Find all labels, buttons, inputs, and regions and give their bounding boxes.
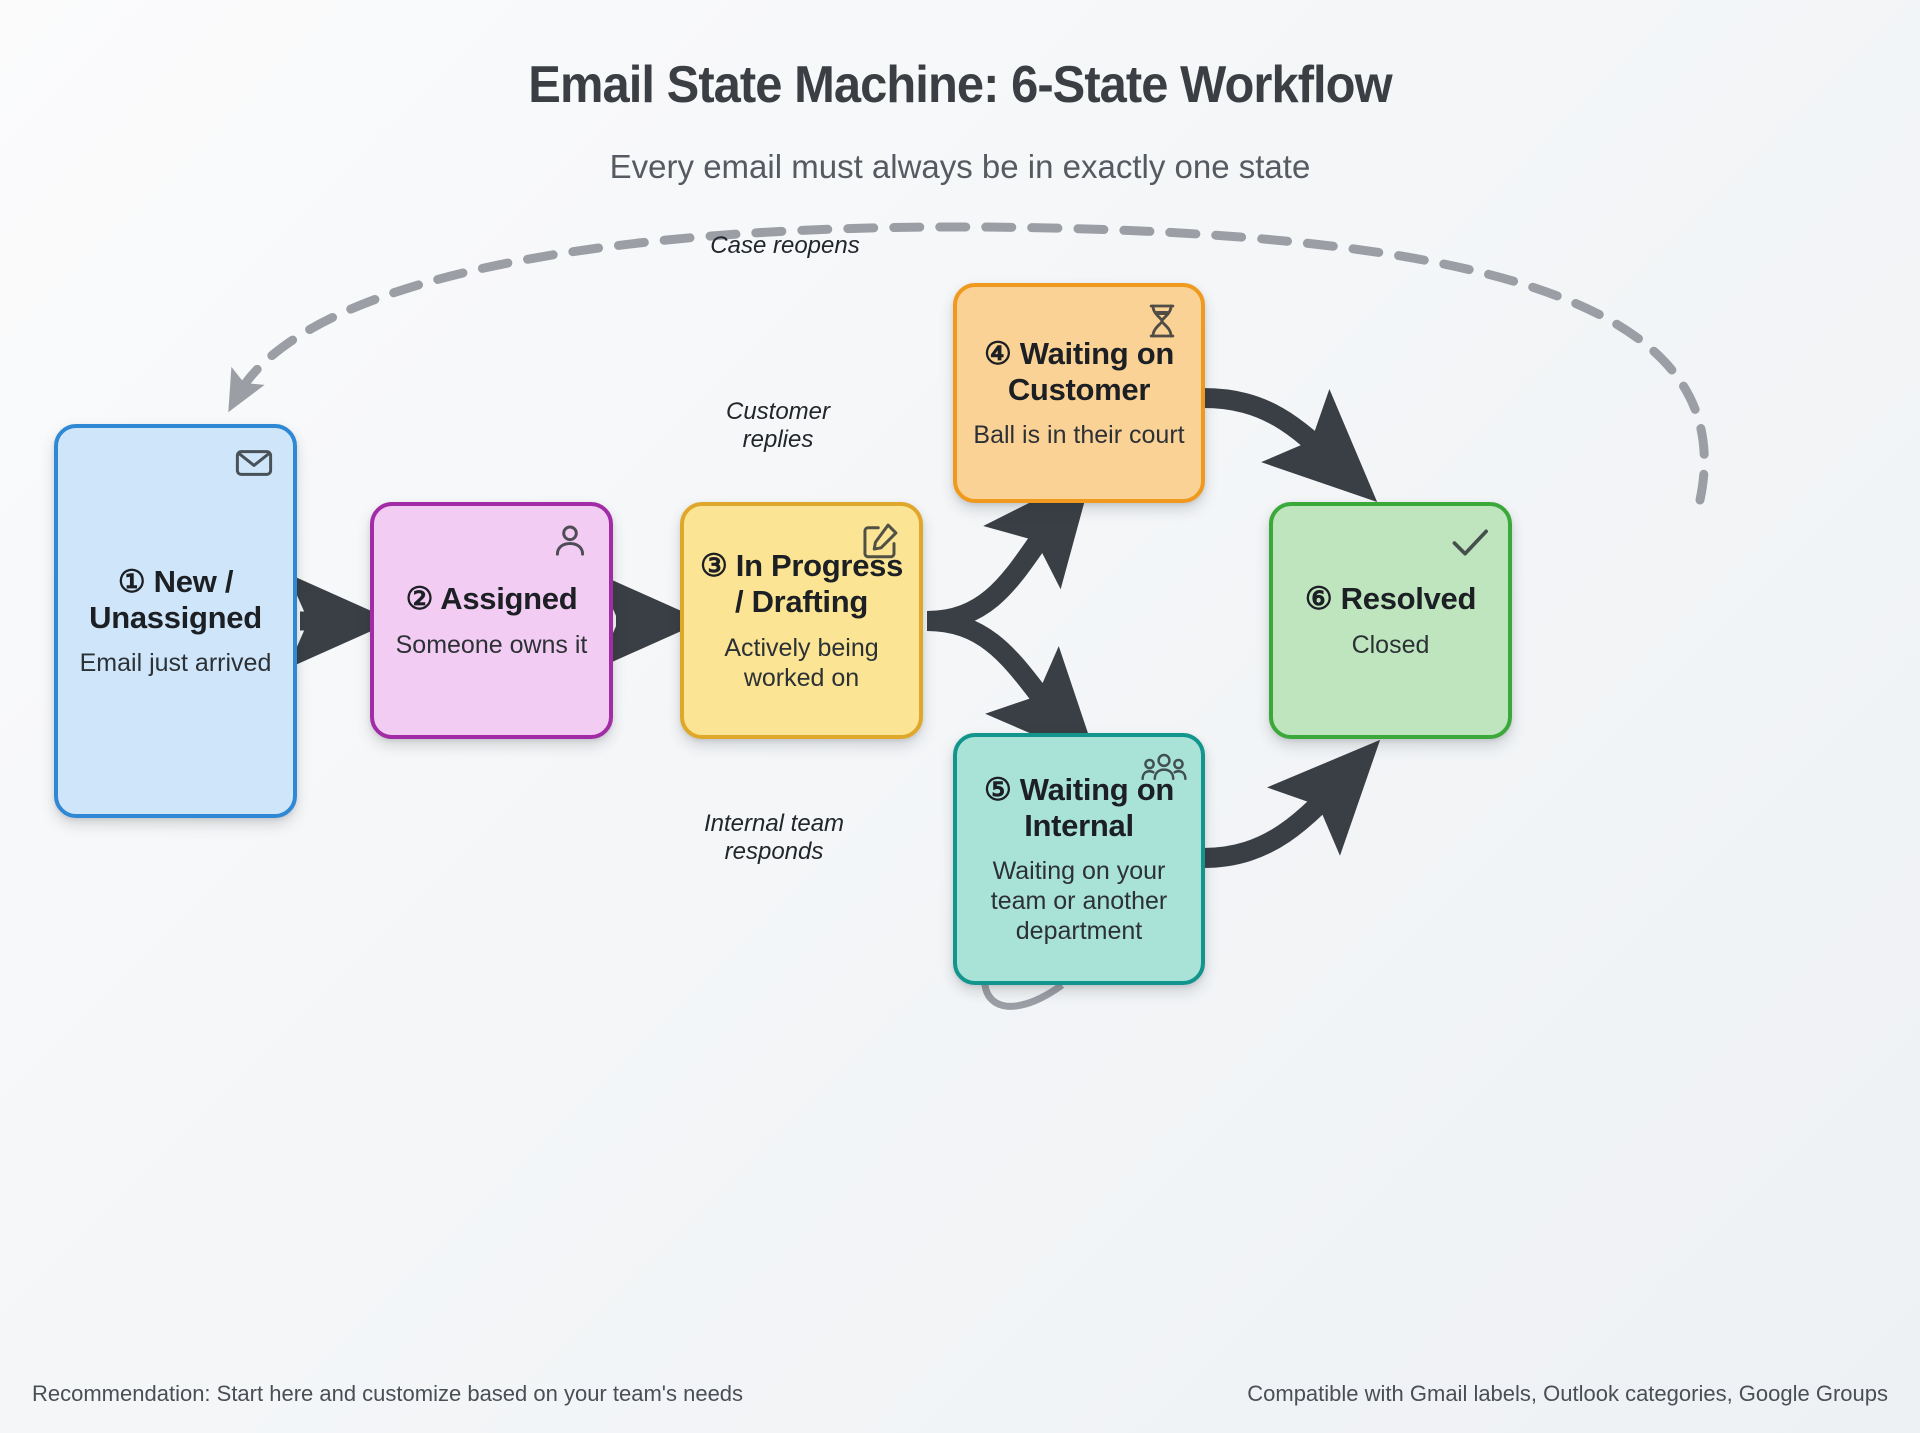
state-node-subtitle-line: worked on: [724, 663, 878, 693]
hourglass-icon: [1141, 301, 1183, 343]
edit-pencil-icon: [859, 520, 901, 562]
state-node-in-progress-drafting[interactable]: ③ In Progress / Drafting Actively being …: [680, 502, 923, 739]
edge-label-line: replies: [700, 426, 856, 454]
people-group-icon: [1141, 751, 1183, 793]
edge-label-internal-responds: Internal team responds: [686, 810, 862, 867]
state-node-title: ② Assigned: [406, 581, 578, 617]
edge-waiting-internal-to-resolved: [1203, 772, 1350, 858]
state-node-resolved[interactable]: ⑥ Resolved Closed: [1269, 502, 1512, 739]
edge-label-case-reopens: Case reopens: [700, 232, 870, 260]
edge-label-line: responds: [686, 838, 862, 866]
state-node-subtitle-line: Actively being: [724, 633, 878, 663]
state-node-title-line: ① New /: [89, 564, 262, 600]
state-node-subtitle: Closed: [1352, 630, 1430, 660]
state-node-subtitle: Ball is in their court: [973, 420, 1184, 450]
state-node-subtitle: Someone owns it: [396, 630, 588, 660]
edge-inprogress-to-waiting-internal: [927, 621, 1068, 730]
state-node-new-unassigned[interactable]: ① New / Unassigned Email just arrived: [54, 424, 297, 818]
state-node-subtitle-line: department: [991, 916, 1168, 946]
state-node-waiting-on-customer[interactable]: ④ Waiting on Customer Ball is in their c…: [953, 283, 1205, 503]
state-node-subtitle-line: team or another: [991, 886, 1168, 916]
state-node-subtitle: Waiting on your team or another departme…: [991, 856, 1168, 946]
person-icon: [549, 520, 591, 562]
checkmark-icon: [1448, 520, 1490, 562]
edge-waiting-customer-to-resolved: [1203, 398, 1345, 472]
state-node-title: ⑥ Resolved: [1305, 581, 1476, 617]
edge-label-line: Customer: [700, 398, 856, 426]
edge-label-customer-replies: Customer replies: [700, 398, 856, 455]
state-node-assigned[interactable]: ② Assigned Someone owns it: [370, 502, 613, 739]
state-node-title: ① New / Unassigned: [89, 564, 262, 636]
state-node-title-line: Internal: [984, 808, 1174, 844]
state-node-title: ④ Waiting on Customer: [984, 336, 1174, 408]
state-node-title-line: Customer: [984, 372, 1174, 408]
state-node-title-line: Unassigned: [89, 600, 262, 636]
state-node-subtitle: Email just arrived: [80, 648, 272, 678]
edge-inprogress-to-waiting-customer: [927, 505, 1065, 621]
state-node-waiting-on-internal[interactable]: ⑤ Waiting on Internal Waiting on your te…: [953, 733, 1205, 985]
state-node-title-line: / Drafting: [700, 584, 903, 620]
envelope-icon: [233, 442, 275, 484]
footer-compatibility: Compatible with Gmail labels, Outlook ca…: [1247, 1381, 1888, 1407]
state-node-subtitle-line: Waiting on your: [991, 856, 1168, 886]
edge-label-line: Internal team: [686, 810, 862, 838]
state-node-subtitle: Actively being worked on: [724, 633, 878, 693]
diagram-canvas: Email State Machine: 6-State Workflow Ev…: [0, 0, 1920, 1433]
footer-recommendation: Recommendation: Start here and customize…: [32, 1381, 743, 1407]
